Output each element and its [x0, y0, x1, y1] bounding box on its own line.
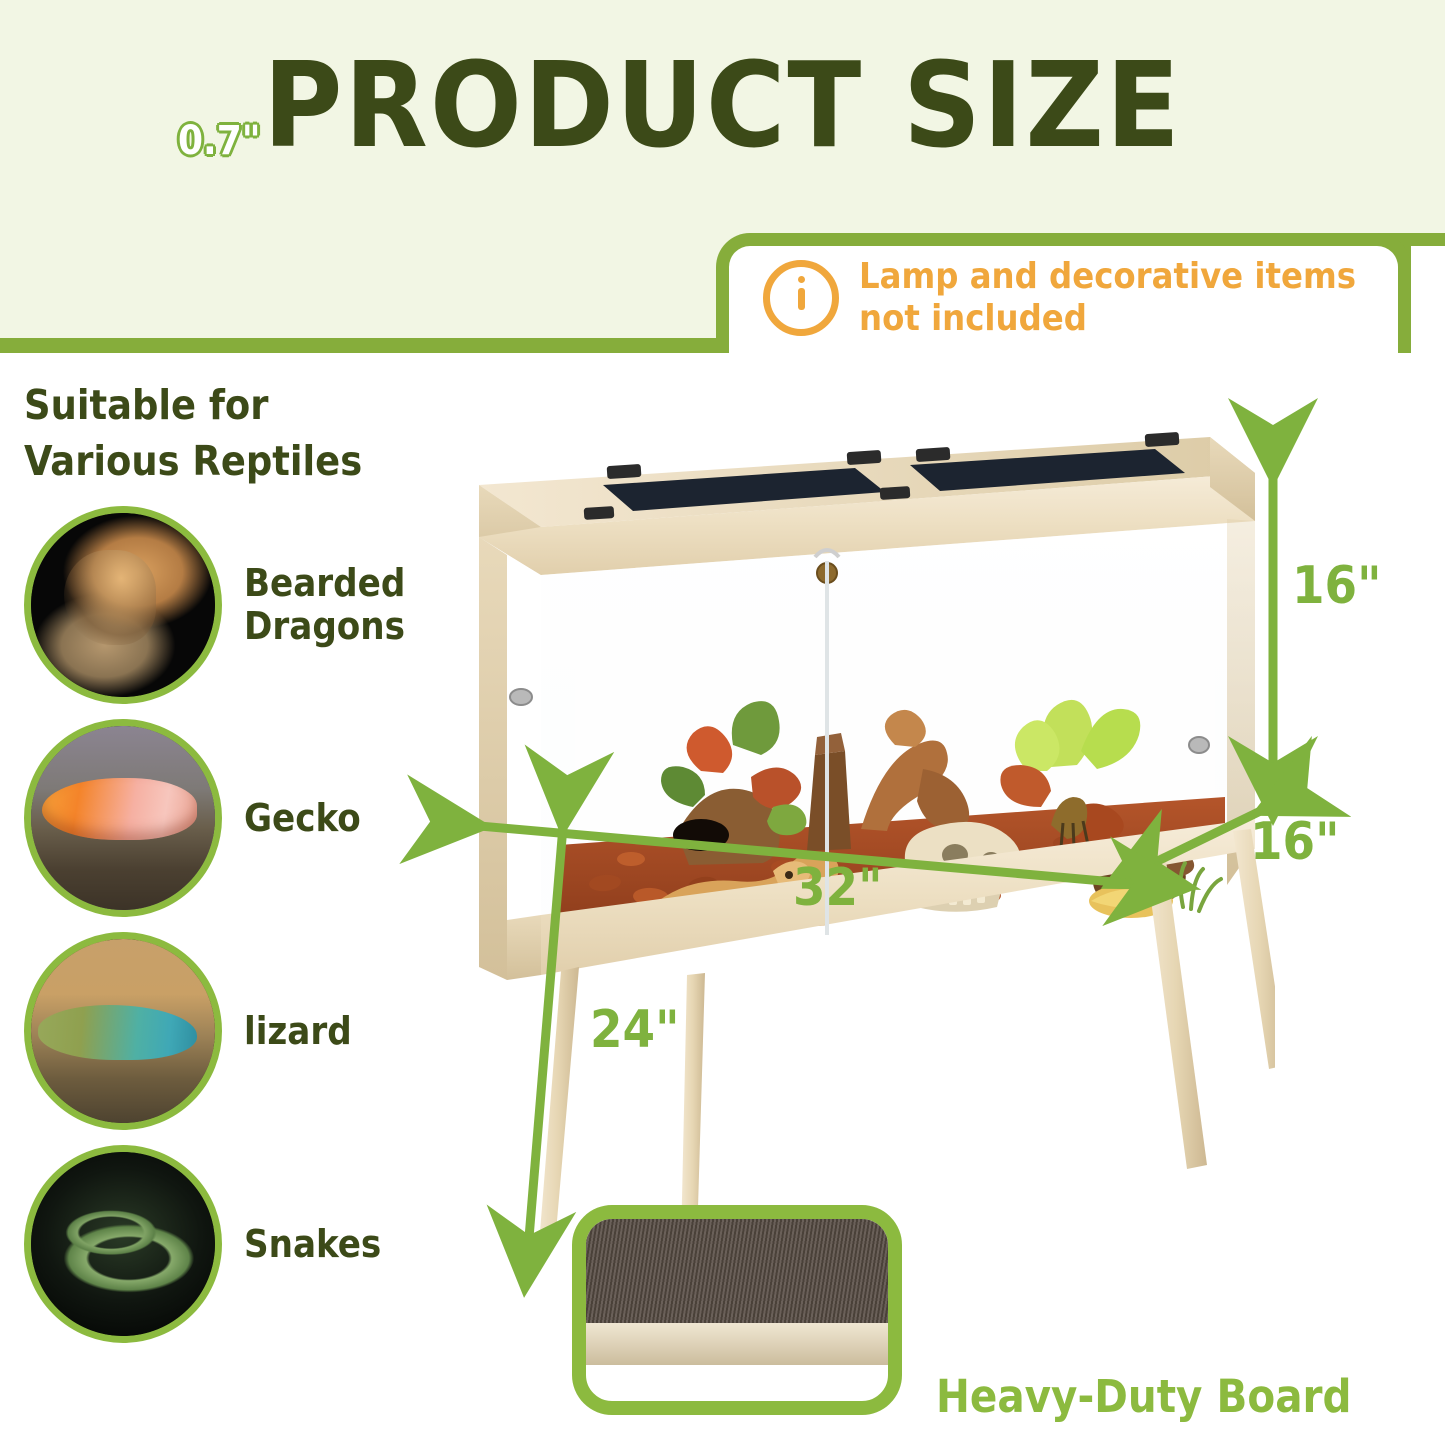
- board-wood-edge: [575, 1323, 902, 1365]
- dimension-label-height: 16": [1292, 556, 1381, 616]
- dimension-label-leg-height: 24": [590, 1000, 679, 1060]
- board-thickness-label: 0.7": [178, 118, 261, 164]
- heavy-duty-board-caption: Heavy-Duty Board: [936, 1370, 1351, 1423]
- board-mesh-surface: [572, 1217, 902, 1325]
- dimension-label-depth: 16": [1250, 812, 1339, 872]
- heavy-duty-board-card: [572, 1205, 902, 1415]
- dimension-label-width: 32": [793, 858, 882, 918]
- dim-arrow-leg-height: [527, 802, 565, 1262]
- infographic-canvas: PRODUCT SIZE Lamp and decorative items n…: [0, 0, 1445, 1434]
